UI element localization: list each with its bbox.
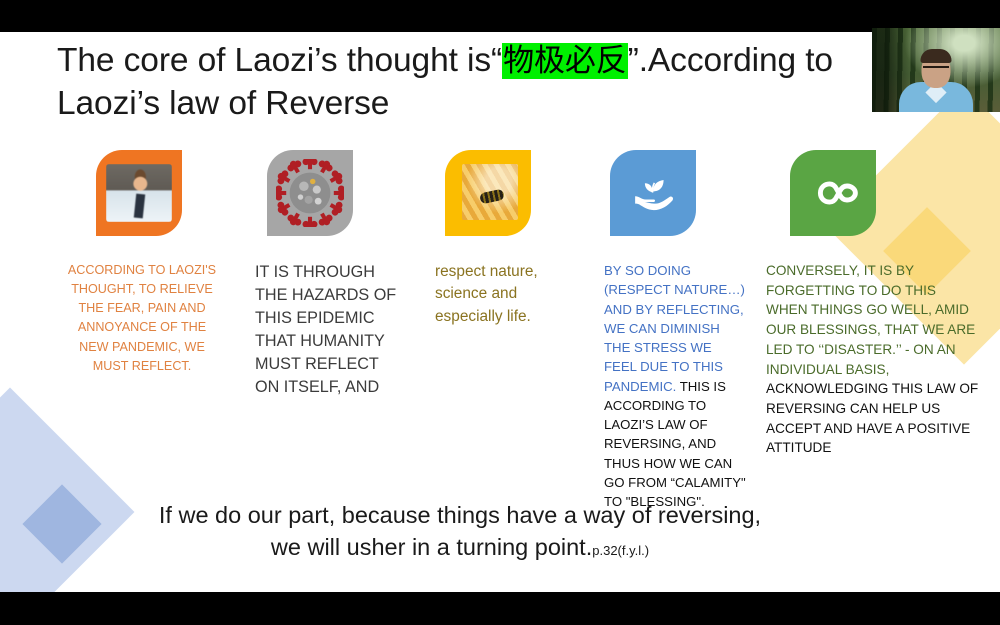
content-column-2: IT IS THROUGH THE HAZARDS OF THIS EPIDEM…: [255, 150, 405, 399]
slide-canvas: The core of Laozi’s thought is“物极必反”.Acc…: [0, 32, 1000, 592]
presenter-video-overlay[interactable]: [872, 28, 1000, 112]
top-letterbox-bar: [0, 0, 1000, 32]
conclusion-line-2-wrapper: we will usher in a turning point.p.32(f.…: [90, 532, 830, 564]
presenter-figure: [899, 54, 973, 112]
column-4-text-part2: THIS IS ACCORDING TO LAOZI’S LAW OF REVE…: [604, 379, 746, 510]
presentation-screen: The core of Laozi’s thought is“物极必反”.Acc…: [0, 0, 1000, 625]
presenter-hair: [921, 49, 952, 63]
infinity-icon: [805, 177, 861, 209]
icon-tile-stewardship[interactable]: [610, 150, 696, 236]
icon-tile-reflect[interactable]: [96, 150, 182, 236]
content-column-4: BY SO DOING (RESPECT NATURE…) AND BY REF…: [604, 150, 746, 511]
icon-tile-nature[interactable]: [445, 150, 531, 236]
column-2-text: IT IS THROUGH THE HAZARDS OF THIS EPIDEM…: [255, 261, 405, 399]
icon-tile-infinity[interactable]: [790, 150, 876, 236]
thinking-man-photo-icon: [106, 164, 172, 222]
column-3-text: respect nature, science and especially l…: [435, 261, 585, 328]
column-5-text-part1: CONVERSELY, IT IS BY FORGETTING TO DO TH…: [766, 263, 975, 377]
hand-holding-plant-icon: [627, 167, 679, 219]
icon-tile-epidemic[interactable]: [267, 150, 353, 236]
content-column-1: ACCORDING TO LAOZI'S THOUGHT, TO RELIEVE…: [62, 150, 222, 376]
column-5-text: CONVERSELY, IT IS BY FORGETTING TO DO TH…: [766, 261, 981, 458]
coronavirus-icon: [276, 159, 344, 227]
column-4-text-part1: BY SO DOING (RESPECT NATURE…) AND BY REF…: [604, 263, 745, 394]
column-5-text-part2: ACKNOWLEDGING THIS LAW OF REVERSING CAN …: [766, 381, 978, 455]
bottom-letterbox-bar: [0, 592, 1000, 625]
conclusion-line-2: we will usher in a turning point.: [271, 534, 592, 560]
content-column-3: respect nature, science and especially l…: [435, 150, 585, 328]
slide-conclusion: If we do our part, because things have a…: [90, 500, 830, 563]
conclusion-line-1: If we do our part, because things have a…: [90, 500, 830, 532]
conclusion-reference: p.32(f.y.l.): [592, 543, 649, 558]
column-4-text: BY SO DOING (RESPECT NATURE…) AND BY REF…: [604, 261, 746, 511]
bee-honeycomb-icon: [462, 164, 518, 220]
content-column-5: CONVERSELY, IT IS BY FORGETTING TO DO TH…: [766, 150, 981, 458]
column-1-text: ACCORDING TO LAOZI'S THOUGHT, TO RELIEVE…: [62, 261, 222, 376]
